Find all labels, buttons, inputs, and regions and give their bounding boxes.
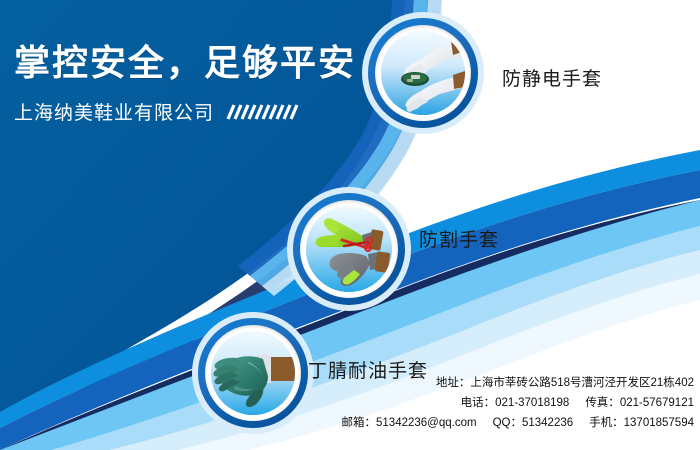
company-name: 上海纳美鞋业有限公司	[14, 98, 214, 125]
contact-phone-line: 电话：021-37018198传真：021-57679121	[342, 397, 694, 410]
mobile-value: 13701857594	[624, 417, 694, 429]
product-node-nitrile[interactable]: 丁腈耐油手套	[192, 312, 314, 434]
qq-label: QQ：	[493, 417, 522, 429]
banner-canvas: 掌控安全，足够平安 上海纳美鞋业有限公司	[0, 0, 700, 450]
address-label: 地址：	[436, 377, 471, 389]
company-row: 上海纳美鞋业有限公司	[14, 98, 374, 125]
headline-block: 掌控安全，足够平安 上海纳美鞋业有限公司	[14, 44, 374, 125]
product-image-nitrile	[211, 331, 295, 415]
phone-value: 021-37018198	[495, 397, 569, 409]
product-label-antistatic: 防静电手套	[502, 64, 602, 91]
page-title: 掌控安全，足够平安	[14, 44, 374, 82]
product-node-cut-resistant[interactable]: 防割手套	[287, 187, 411, 311]
product-image-cut-resistant	[306, 206, 392, 292]
fax-value: 021-57679121	[620, 397, 694, 409]
mobile-label: 手机：	[589, 417, 624, 429]
slash-decoration-icon	[226, 103, 300, 121]
contact-block: 地址：上海市莘砖公路518号漕河泾开发区21栋402 电话：021-370181…	[342, 377, 694, 438]
phone-label: 电话：	[461, 397, 496, 409]
email-value[interactable]: 51342236@qq.com	[376, 417, 477, 429]
contact-address-line: 地址：上海市莘砖公路518号漕河泾开发区21栋402	[342, 377, 694, 390]
fax-label: 传真：	[585, 397, 620, 409]
qq-value: 51342236	[522, 417, 573, 429]
product-label-cut-resistant: 防割手套	[419, 225, 499, 252]
address-value: 上海市莘砖公路518号漕河泾开发区21栋402	[470, 377, 694, 389]
product-node-antistatic[interactable]: 防静电手套	[362, 12, 484, 134]
contact-email-line: 邮箱：51342236@qq.comQQ：51342236手机：13701857…	[342, 417, 694, 430]
email-label: 邮箱：	[342, 417, 377, 429]
product-image-antistatic	[381, 31, 465, 115]
